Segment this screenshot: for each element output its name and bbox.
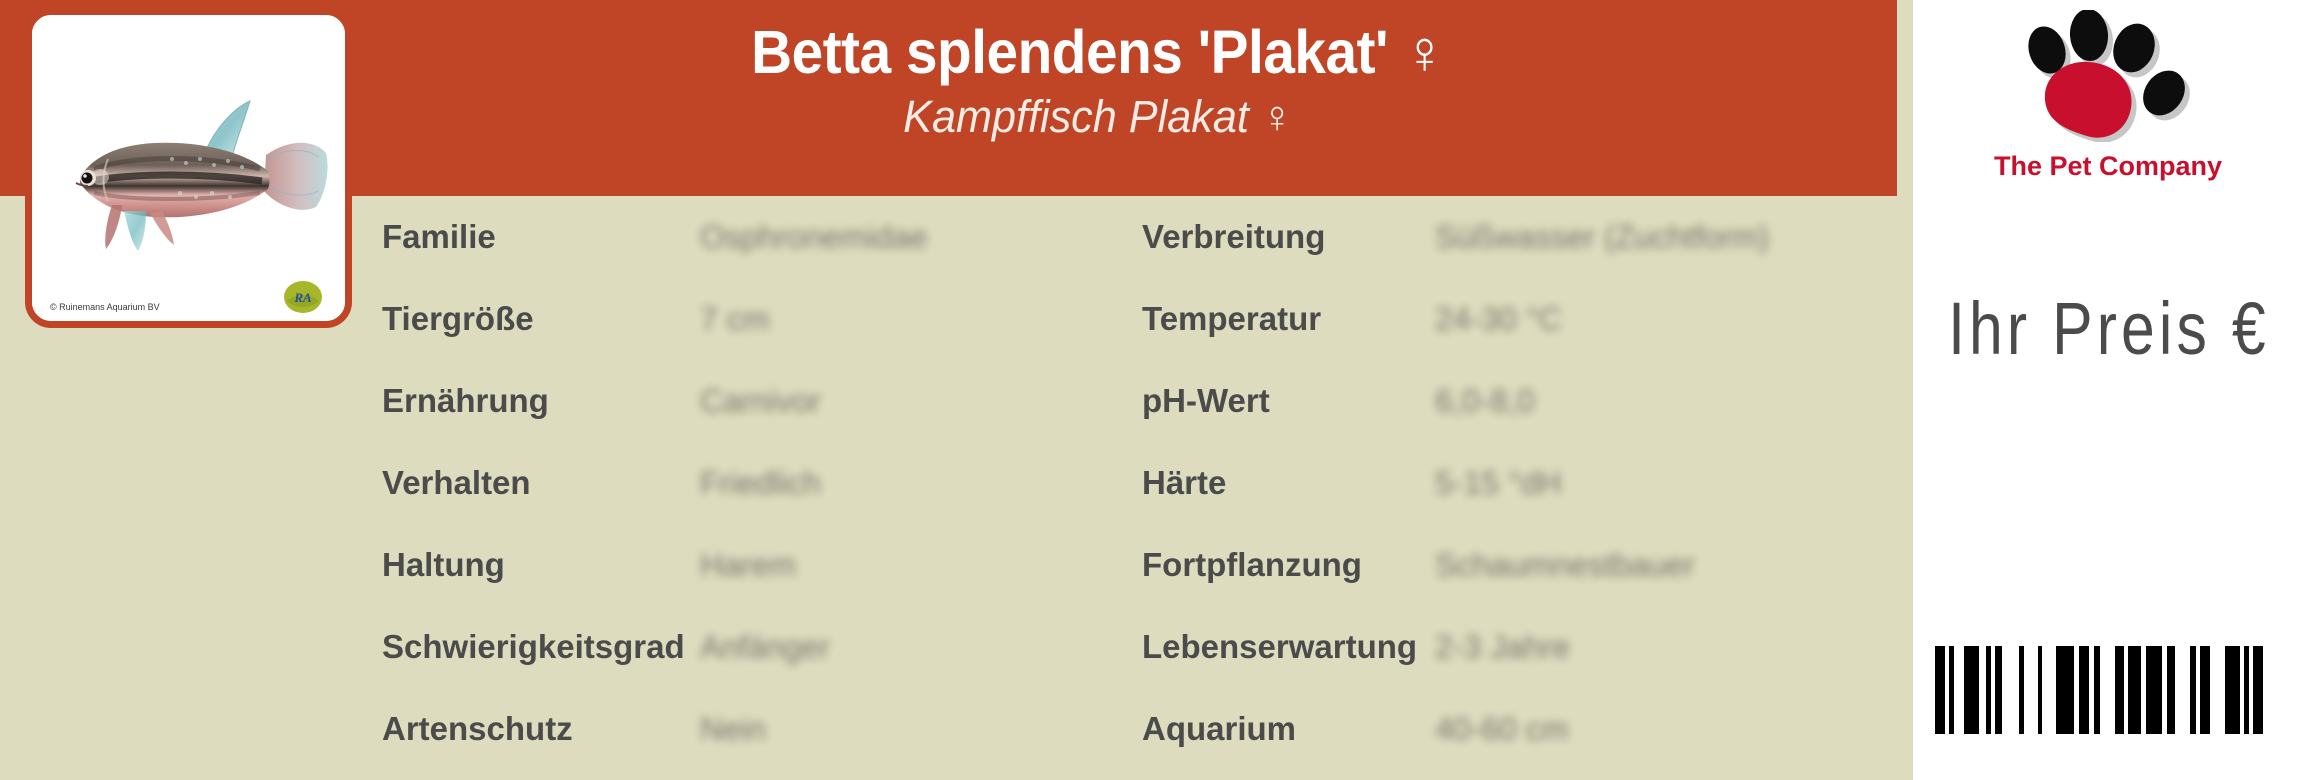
- barcode-bar: [2175, 646, 2190, 734]
- price-sidebar: The Pet Company Ihr Preis €: [1913, 0, 2303, 780]
- attribute-label: Tiergröße: [382, 300, 700, 338]
- page-subtitle: Kampffisch Plakat ♀: [903, 90, 1293, 144]
- attribute-value: Carnivor: [700, 383, 821, 420]
- attribute-value: Osphronemidae: [700, 219, 928, 256]
- attribute-label: Fortpflanzung: [1142, 546, 1435, 584]
- attribute-label: Ernährung: [382, 382, 700, 420]
- attribute-value: 40-60 cm: [1435, 711, 1568, 748]
- attribute-label: Temperatur: [1142, 300, 1435, 338]
- paw-print-icon: [2017, 10, 2202, 142]
- barcode-bar: [2056, 646, 2074, 734]
- attribute-label: pH-Wert: [1142, 382, 1435, 420]
- table-row: Familie Osphronemidae: [382, 196, 1182, 278]
- attributes-column-right: Verbreitung Süßwasser (Zuchtform) Temper…: [1142, 196, 1897, 770]
- species-info-label: Betta splendens 'Plakat' ♀ Kampffisch Pl…: [0, 0, 2303, 780]
- table-row: Haltung Harem: [382, 524, 1182, 606]
- attribute-value: Harem: [700, 547, 796, 584]
- attributes-table: Familie Osphronemidae Tiergröße 7 cm Ern…: [0, 196, 1897, 780]
- barcode-bar: [1979, 646, 1986, 734]
- card-edge-strip: [1897, 0, 1913, 780]
- attribute-value: Schaumnestbauer: [1435, 547, 1695, 584]
- barcode-bar: [1935, 646, 1945, 734]
- attribute-label: Verbreitung: [1142, 218, 1435, 256]
- header-text-block: Betta splendens 'Plakat' ♀ Kampffisch Pl…: [300, 0, 1897, 196]
- attribute-value: Anfänger: [700, 629, 830, 666]
- barcode-bar: [2225, 646, 2240, 734]
- attribute-value: 2-3 Jahre: [1435, 629, 1570, 666]
- table-row: Lebenserwartung 2-3 Jahre: [1142, 606, 1897, 688]
- table-row: Härte 5-15 °dH: [1142, 442, 1897, 524]
- brand-logo: The Pet Company: [1913, 6, 2303, 206]
- attribute-value: 24-30 °C: [1435, 301, 1562, 338]
- barcode-bar: [2079, 646, 2089, 734]
- table-row: Verhalten Friedlich: [382, 442, 1182, 524]
- barcode-bar: [1995, 646, 2002, 734]
- attribute-label: Schwierigkeitsgrad: [382, 628, 700, 666]
- table-row: pH-Wert 6,0-8,0: [1142, 360, 1897, 442]
- attribute-value: Nein: [700, 711, 766, 748]
- species-card: Betta splendens 'Plakat' ♀ Kampffisch Pl…: [0, 0, 1897, 780]
- table-row: Artenschutz Nein: [382, 688, 1182, 770]
- page-title: Betta splendens 'Plakat' ♀: [751, 16, 1445, 88]
- attributes-column-left: Familie Osphronemidae Tiergröße 7 cm Ern…: [382, 196, 1182, 770]
- barcode-bar: [2128, 646, 2141, 734]
- price-label: Ihr Preis €: [1948, 287, 2268, 371]
- attribute-label: Haltung: [382, 546, 700, 584]
- barcode-bar: [2024, 646, 2038, 734]
- table-row: Ernährung Carnivor: [382, 360, 1182, 442]
- barcode-bar: [2002, 646, 2019, 734]
- table-row: Temperatur 24-30 °C: [1142, 278, 1897, 360]
- table-row: Verbreitung Süßwasser (Zuchtform): [1142, 196, 1897, 278]
- attribute-value: Friedlich: [700, 465, 821, 502]
- attribute-label: Verhalten: [382, 464, 700, 502]
- barcode: [1935, 646, 2263, 734]
- barcode-bar: [2115, 646, 2125, 734]
- brand-name: The Pet Company: [1913, 151, 2303, 182]
- attribute-value: 5-15 °dH: [1435, 465, 1562, 502]
- barcode-bar: [2200, 646, 2210, 734]
- table-row: Schwierigkeitsgrad Anfänger: [382, 606, 1182, 688]
- barcode-bar: [2253, 646, 2263, 734]
- barcode-bar: [1964, 646, 1979, 734]
- barcode-bar: [2210, 646, 2225, 734]
- attribute-label: Aquarium: [1142, 710, 1435, 748]
- barcode-bar: [2042, 646, 2056, 734]
- attribute-value: 6,0-8,0: [1435, 383, 1535, 420]
- table-row: Aquarium 40-60 cm: [1142, 688, 1897, 770]
- attribute-label: Artenschutz: [382, 710, 700, 748]
- barcode-bar: [2146, 646, 2162, 734]
- attribute-value: 7 cm: [700, 301, 769, 338]
- barcode-bar: [2167, 646, 2176, 734]
- attribute-label: Familie: [382, 218, 700, 256]
- table-row: Fortpflanzung Schaumnestbauer: [1142, 524, 1897, 606]
- barcode-bar: [1954, 646, 1964, 734]
- table-row: Tiergröße 7 cm: [382, 278, 1182, 360]
- barcode-bar: [2100, 646, 2115, 734]
- attribute-label: Härte: [1142, 464, 1435, 502]
- attribute-label: Lebenserwartung: [1142, 628, 1435, 666]
- attribute-value: Süßwasser (Zuchtform): [1435, 219, 1769, 256]
